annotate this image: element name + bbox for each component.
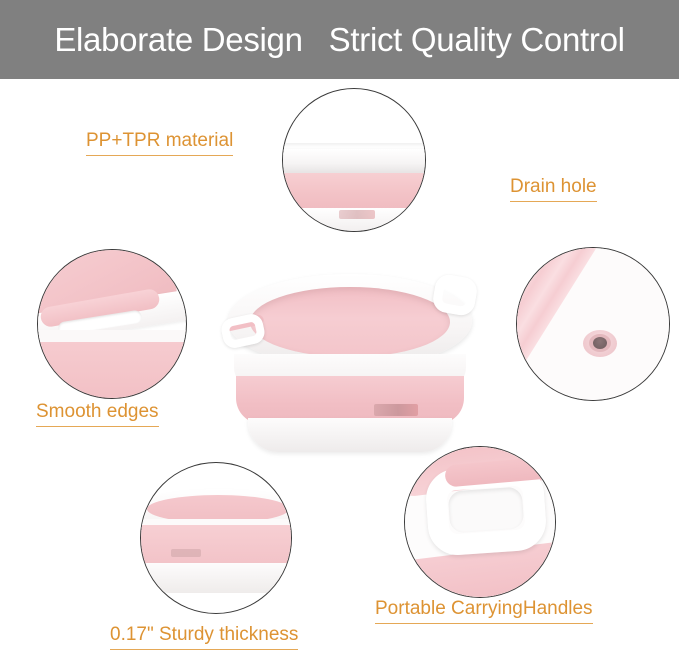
basin-pink-body (37, 342, 187, 399)
drain-hole-icon (593, 337, 607, 349)
header-titles: Elaborate Design Strict Quality Control (0, 0, 679, 79)
callout-circle-material (282, 88, 426, 232)
callout-circle-edges-art (38, 250, 186, 398)
basin-thick-base (141, 563, 292, 593)
hero-basin-pink-band (236, 376, 464, 424)
header-title-right: Strict Quality Control (329, 23, 625, 56)
callout-label-edges: Smooth edges (36, 401, 159, 427)
brand-logo (339, 210, 375, 219)
basin-pink-band (282, 173, 426, 209)
callout-label-drain: Drain hole (510, 176, 597, 202)
carry-handle-opening (448, 486, 525, 533)
header-title-left: Elaborate Design (54, 23, 302, 56)
callout-circle-thickness (140, 462, 292, 614)
callout-circle-edges (37, 249, 187, 399)
hero-brand-logo (374, 404, 418, 416)
callout-circle-material-art (283, 89, 425, 231)
callout-circle-thickness-art (141, 463, 291, 613)
basin-rim (282, 149, 426, 173)
hero-basin-interior (250, 287, 450, 357)
product-infographic-page: Elaborate Design Strict Quality Control (0, 0, 679, 652)
callout-label-handles: Portable CarryingHandles (375, 598, 593, 624)
brand-logo (171, 549, 201, 557)
callout-circle-drain (516, 247, 670, 401)
header-banner: Elaborate Design Strict Quality Control (0, 0, 679, 79)
callout-circle-handles (404, 446, 556, 598)
callout-label-thickness: 0.17" Sturdy thickness (110, 624, 298, 650)
callout-circle-drain-art (517, 248, 669, 400)
hero-product-image (222, 270, 478, 460)
callout-label-material: PP+TPR material (86, 130, 233, 156)
callout-circle-handles-art (405, 447, 555, 597)
basin-thick-pink-band (140, 525, 292, 567)
